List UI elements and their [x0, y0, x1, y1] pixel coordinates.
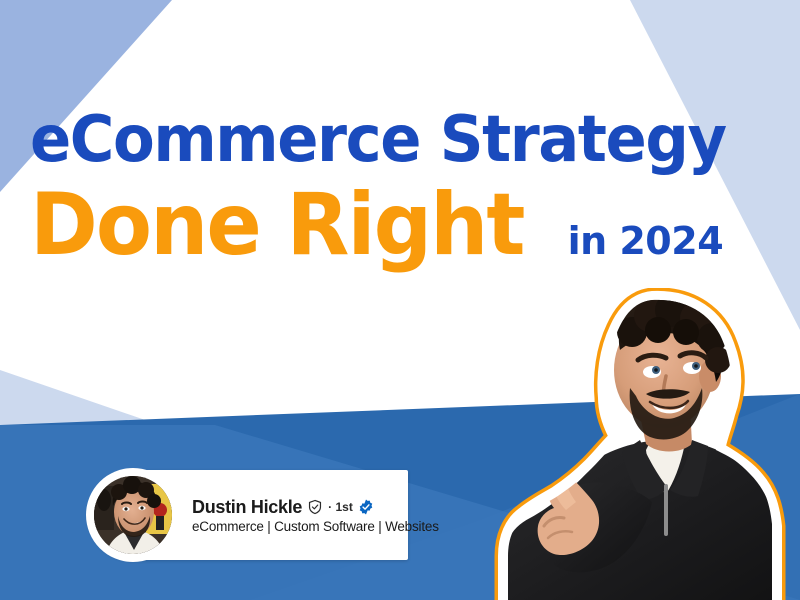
avatar [94, 476, 172, 554]
person-pointing-cutout [452, 288, 800, 600]
avatar-ring [86, 468, 180, 562]
connection-degree: · 1st [328, 500, 353, 514]
headline-line-2-row: Done Right in 2024 [30, 182, 770, 268]
headline-line-2: Done Right [30, 182, 524, 268]
verified-badge-icon [358, 499, 374, 515]
headline-year-suffix: in 2024 [568, 219, 724, 263]
shield-check-icon [307, 499, 323, 515]
profile-name: Dustin Hickle [192, 497, 302, 518]
profile-text-block: Dustin Hickle · 1st eCommerce | Custom S… [192, 497, 439, 534]
profile-card[interactable]: Dustin Hickle · 1st eCommerce | Custom S… [88, 470, 408, 560]
graphic-canvas: eCommerce Strategy Done Right in 2024 [0, 0, 800, 600]
headline-block: eCommerce Strategy Done Right in 2024 [30, 108, 770, 268]
headline-line-1: eCommerce Strategy [30, 108, 733, 172]
profile-tagline: eCommerce | Custom Software | Websites [192, 519, 439, 534]
profile-name-row: Dustin Hickle · 1st [192, 497, 439, 518]
jacket-zipper [664, 484, 668, 536]
